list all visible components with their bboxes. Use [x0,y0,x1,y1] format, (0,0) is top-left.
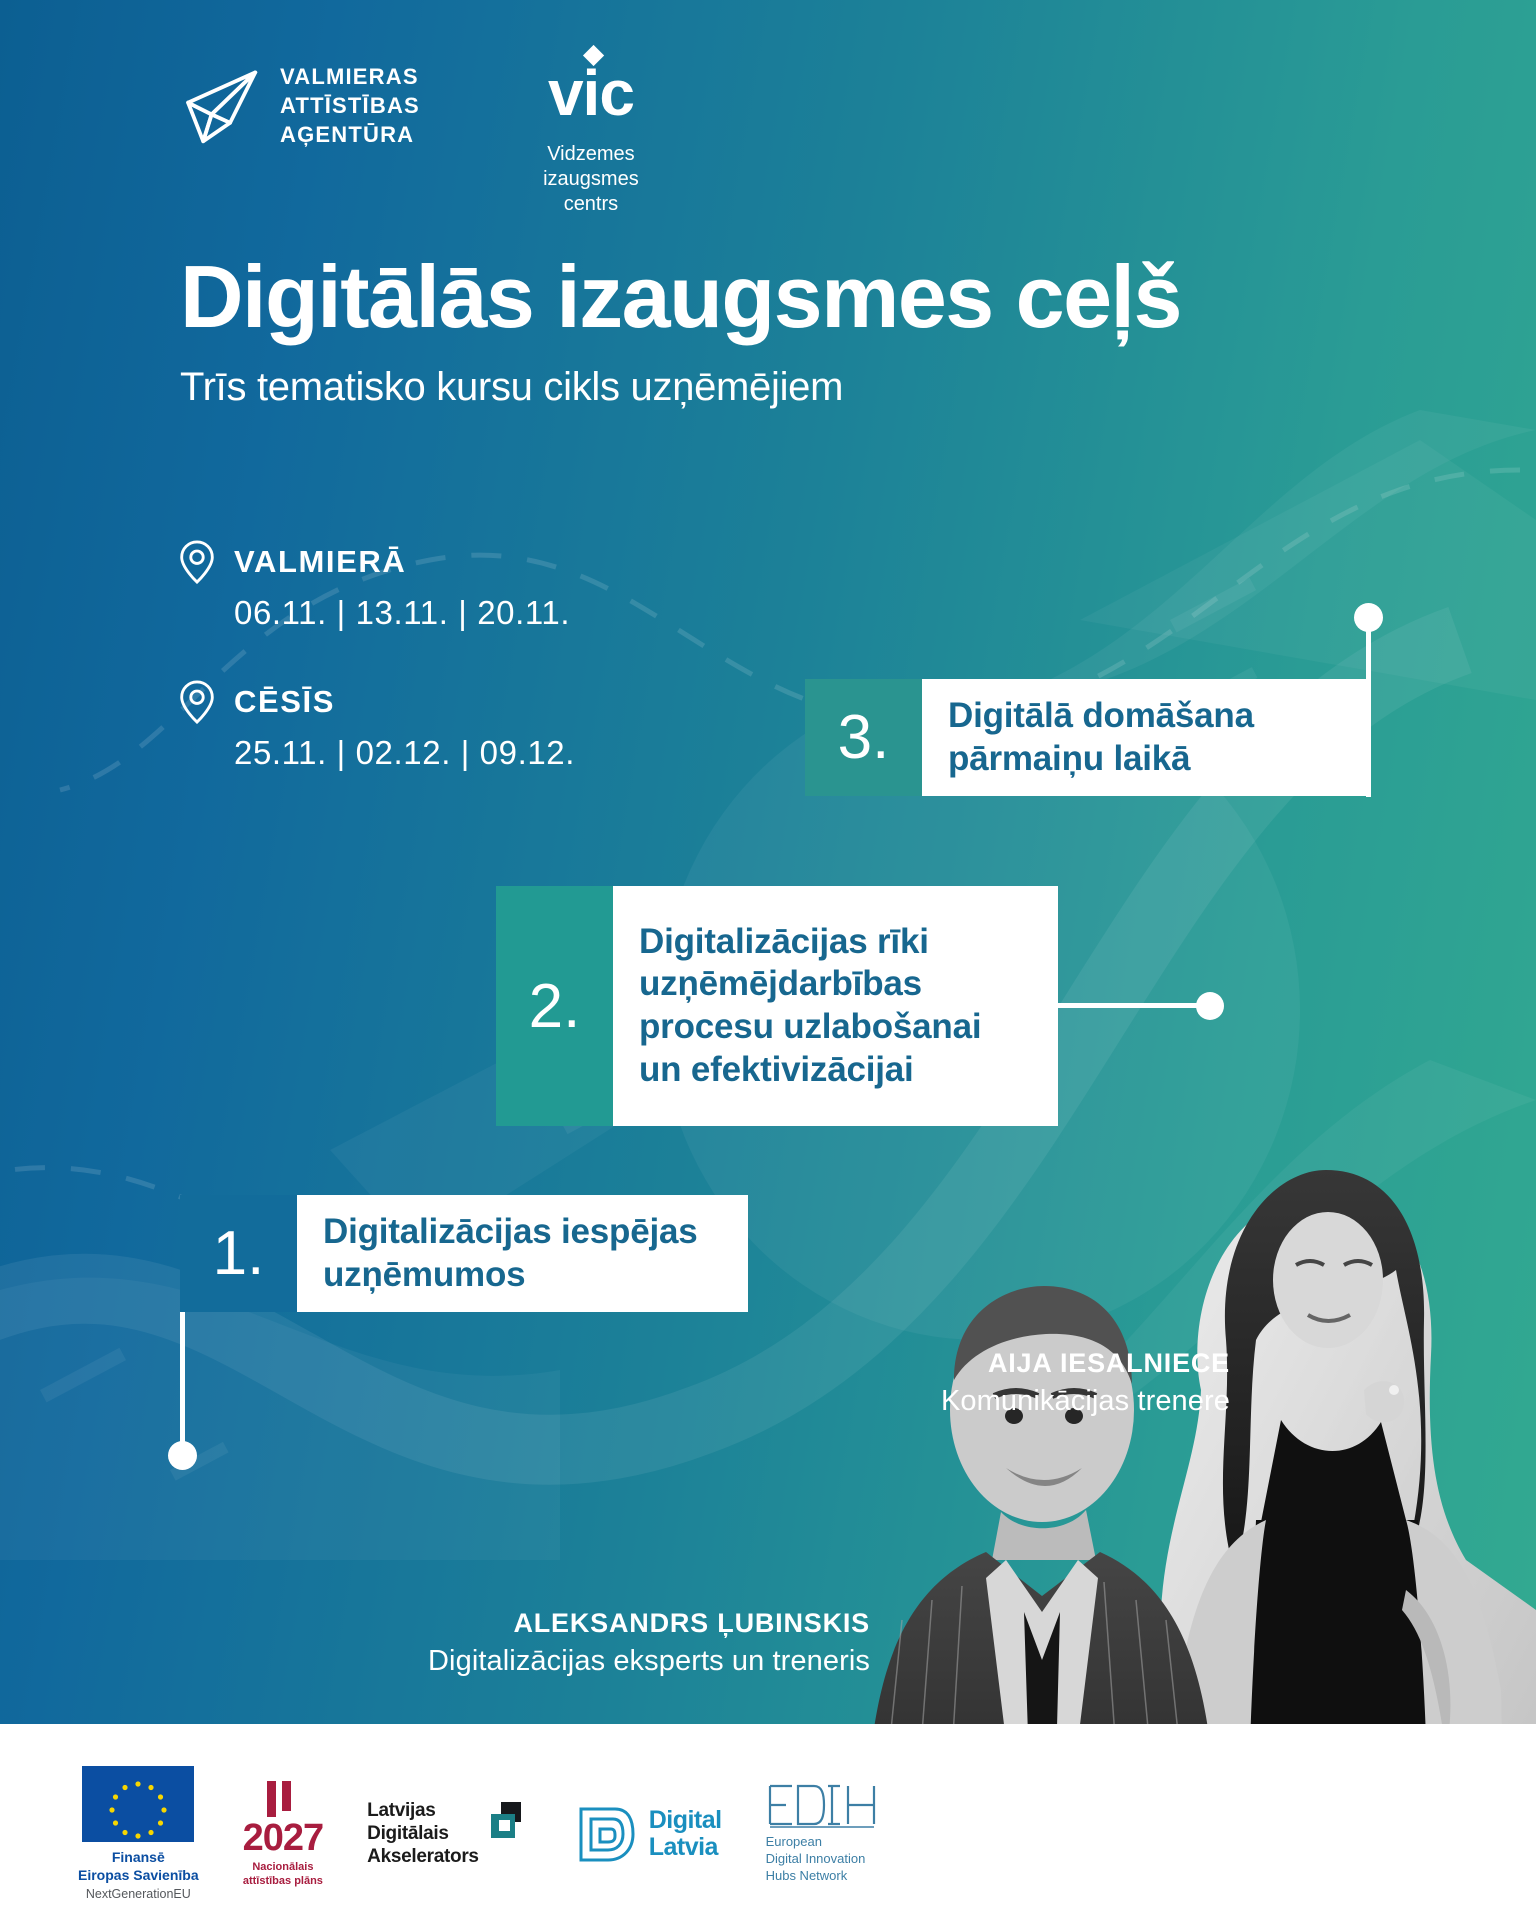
location-city-cesis: CĒSĪS [234,684,335,720]
speaker-name-aleksandrs: ALEKSANDRS ĻUBINSKIS [300,1608,870,1639]
edih-line1: European [766,1834,878,1851]
course-card-2-title: Digitalizācijas rīki uzņēmējdarbības pro… [613,886,1058,1126]
valmiera-logo-line1: VALMIERAS [280,62,420,91]
header-logos: VALMIERAS ATTĪSTĪBAS AĢENTŪRA vic Vidzem… [178,62,666,217]
valmiera-logo-text: VALMIERAS ATTĪSTĪBAS AĢENTŪRA [280,62,420,149]
headline-block: Digitālās izaugsmes ceļš Trīs tematisko … [180,253,1440,409]
eu-line3: NextGenerationEU [86,1887,191,1901]
np-caption: Nacionālais attīstības plāns [243,1861,323,1887]
dl-line2: Latvia [649,1834,722,1861]
speaker-caption-aija: AIJA IESALNIECE Komunikācijas trenere [760,1348,1230,1418]
speaker-role-aija: Komunikācijas trenere [760,1385,1230,1418]
vic-sub-line3: centrs [516,192,666,217]
course-card-2-number: 2. [496,886,613,1126]
course-card-3[interactable]: 3. Digitālā domāšana pārmaiņu laikā [805,679,1370,796]
location-city-valmiera: VALMIERĀ [234,544,406,580]
connector-dot-course-3 [1354,603,1383,632]
page-title: Digitālās izaugsmes ceļš [180,253,1440,341]
location-pin-icon [178,680,216,724]
course-card-1[interactable]: 1. Digitalizācijas iespējas uzņēmumos [180,1195,748,1312]
vic-logo: vic Vidzemes izaugsmes centrs [516,62,666,217]
np-line1: Nacionālais [243,1861,323,1874]
connector-line-course-1 [180,1312,185,1454]
eu-caption: Finansē Eiropas Savienība [78,1849,199,1884]
vic-wordmark-wrap: vic [516,62,666,134]
squares-icon [485,1798,531,1844]
location-header-cesis: CĒSĪS [178,680,575,724]
eu-line2: Eiropas Savienība [78,1867,199,1885]
paper-plane-icon [178,64,262,148]
edih-wordmark-icon [766,1782,878,1828]
page-subtitle: Trīs tematisko kursu cikls uzņēmējiem [180,365,1440,409]
edih-caption: European Digital Innovation Hubs Network [766,1834,878,1885]
connector-dot-course-1 [168,1441,197,1470]
np-bars-icon [257,1779,309,1819]
national-development-plan-logo: 2027 Nacionālais attīstības plāns [243,1779,324,1887]
vic-subtitle: Vidzemes izaugsmes centrs [516,142,666,217]
location-dates-cesis: 25.11. | 02.12. | 09.12. [234,734,575,772]
course-card-2[interactable]: 2. Digitalizācijas rīki uzņēmējdarbības … [496,886,1058,1126]
location-pin-icon [178,540,216,584]
valmiera-logo-line2: ATTĪSTĪBAS [280,91,420,120]
poster-root: VALMIERAS ATTĪSTĪBAS AĢENTŪRA vic Vidzem… [0,0,1536,1920]
vic-sub-line1: Vidzemes [516,142,666,167]
edih-logo: European Digital Innovation Hubs Network [766,1782,878,1885]
valmiera-logo-line3: AĢENTŪRA [280,120,420,149]
location-header-valmiera: VALMIERĀ [178,540,575,584]
np-year: 2027 [243,1819,324,1857]
digital-latvia-logo: Digital Latvia [575,1803,722,1865]
digital-latvia-text: Digital Latvia [649,1807,722,1861]
lda-line3: Akselerators [367,1845,479,1868]
vic-sub-line2: izaugsmes [516,167,666,192]
location-item-cesis: CĒSĪS 25.11. | 02.12. | 09.12. [178,680,575,772]
eu-line1: Finansē [78,1849,199,1867]
edih-line2: Digital Innovation [766,1851,878,1868]
dl-line1: Digital [649,1807,722,1834]
lda-line2: Digitālais [367,1822,479,1845]
lda-text: Latvijas Digitālais Akselerators [367,1799,479,1869]
speaker-caption-aleksandrs: ALEKSANDRS ĻUBINSKIS Digitalizācijas eks… [300,1608,870,1678]
location-item-valmiera: VALMIERĀ 06.11. | 13.11. | 20.11. [178,540,575,632]
course-card-1-number: 1. [180,1195,297,1312]
footer-logo-row: Finansē Eiropas Savienība NextGeneration… [78,1766,878,1901]
course-card-1-title: Digitalizācijas iespējas uzņēmumos [297,1195,748,1312]
speaker-role-aleksandrs: Digitalizācijas eksperts un treneris [300,1645,870,1678]
np-line2: attīstības plāns [243,1875,323,1888]
location-dates-valmiera: 06.11. | 13.11. | 20.11. [234,594,575,632]
eu-flag-icon [82,1766,194,1842]
speaker-name-aija: AIJA IESALNIECE [760,1348,1230,1379]
latvijas-digitalais-akselerators-logo: Latvijas Digitālais Akselerators [367,1798,531,1870]
course-card-3-title: Digitālā domāšana pārmaiņu laikā [922,679,1370,796]
eu-funding-logo: Finansē Eiropas Savienība NextGeneration… [78,1766,199,1901]
edih-line3: Hubs Network [766,1868,878,1885]
connector-dot-course-2 [1196,992,1224,1020]
digital-latvia-mark-icon [575,1803,637,1865]
footer-bar: Finansē Eiropas Savienība NextGeneration… [0,1724,1536,1920]
vic-wordmark: vic [516,62,666,124]
lda-line1: Latvijas [367,1799,479,1822]
locations-block: VALMIERĀ 06.11. | 13.11. | 20.11. CĒSĪS … [178,540,575,820]
eu-stars-icon [82,1766,194,1842]
valmiera-development-agency-logo: VALMIERAS ATTĪSTĪBAS AĢENTŪRA [178,62,420,149]
course-card-3-number: 3. [805,679,922,796]
